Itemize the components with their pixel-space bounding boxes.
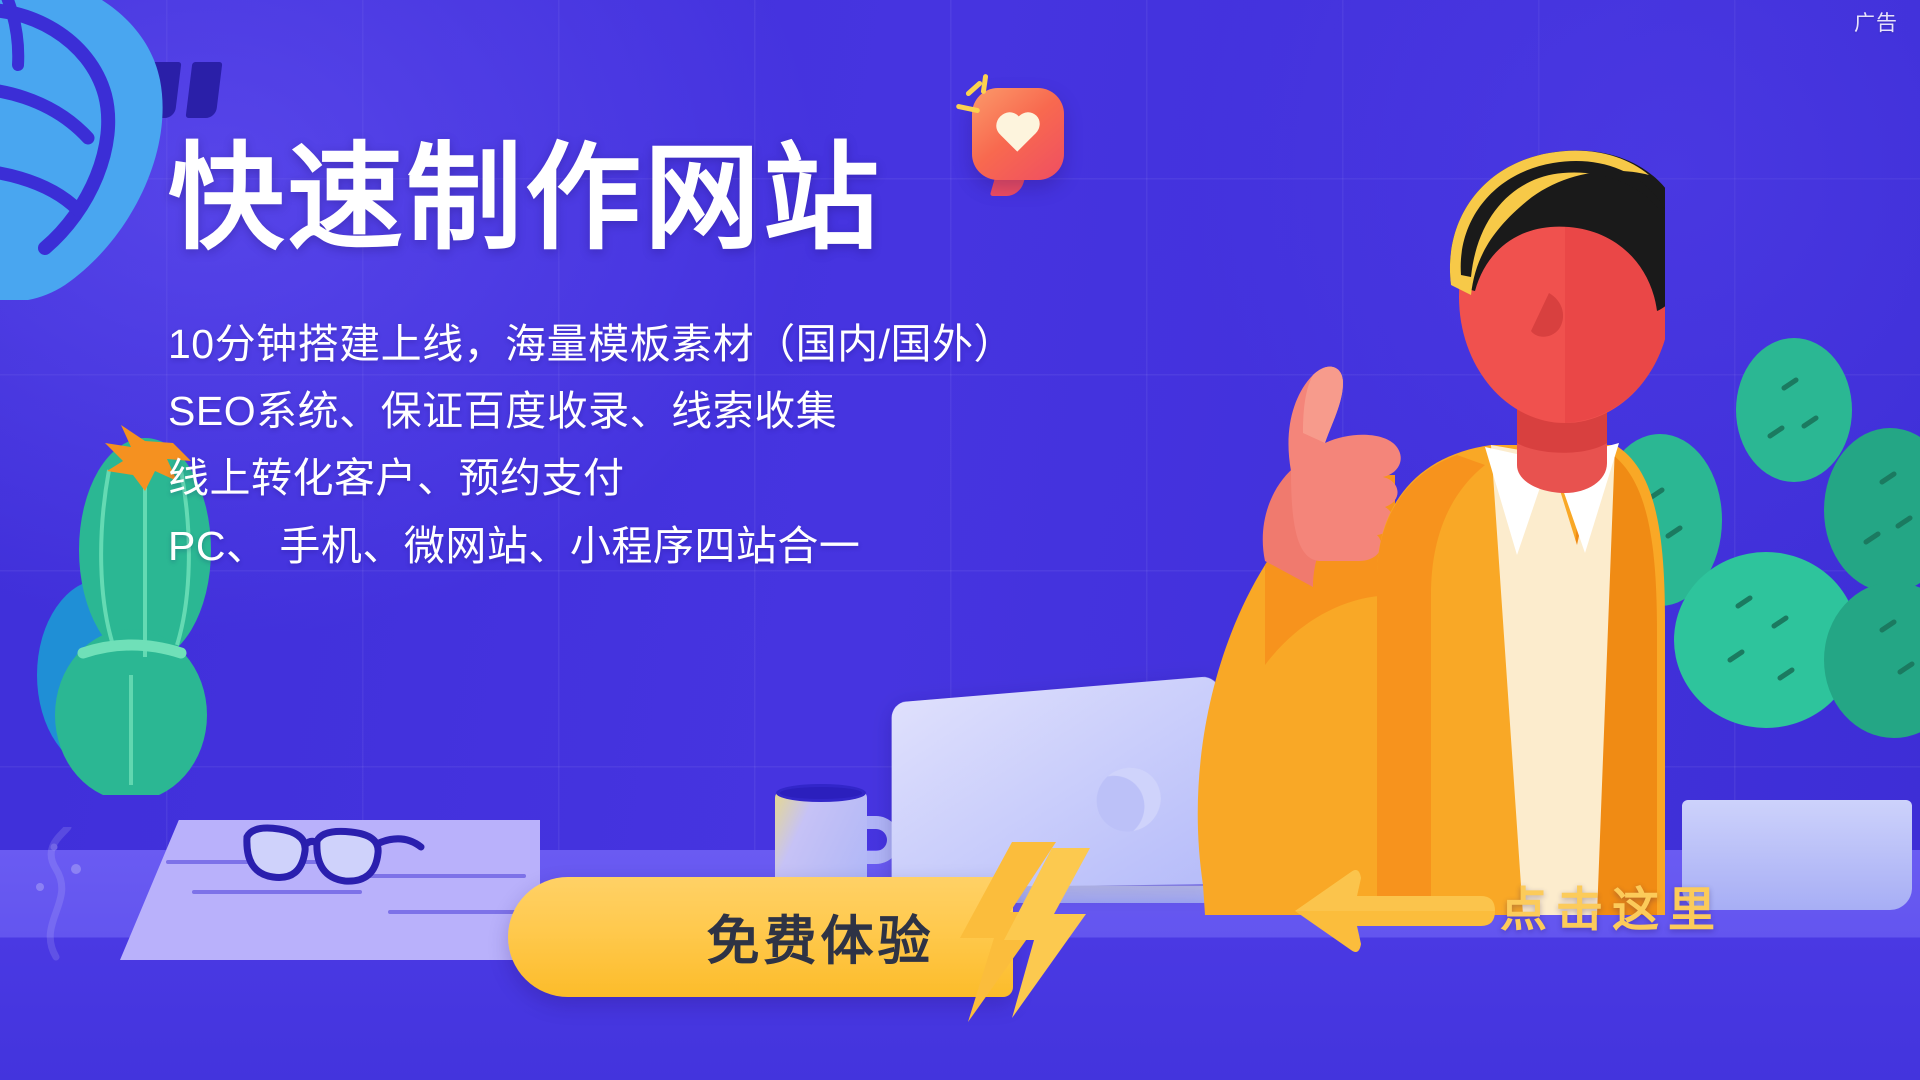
click-here-hint: 点击这里 <box>1500 871 1724 940</box>
ad-label: 广告 <box>1854 7 1898 37</box>
lightning-bolt-icon <box>960 842 1090 1022</box>
left-arrow-icon <box>1295 870 1495 952</box>
page-title: 快速制作网站 <box>168 130 1015 267</box>
person-illustration <box>1145 125 1665 915</box>
free-trial-button[interactable]: 免费体验 <box>508 877 1013 997</box>
list-item: PC、 手机、微网站、小程序四站合一 <box>168 513 1015 580</box>
free-trial-button-label: 免费体验 <box>587 899 935 975</box>
list-item: 线上转化客户、预约支付 <box>168 445 1015 512</box>
list-item: SEO系统、保证百度收录、线索收集 <box>168 378 1015 445</box>
feature-list: 10分钟搭建上线，海量模板素材（国内/国外） SEO系统、保证百度收录、线索收集… <box>168 311 1015 580</box>
ad-copy: 快速制作网站 10分钟搭建上线，海量模板素材（国内/国外） SEO系统、保证百度… <box>168 130 1015 580</box>
list-item: 10分钟搭建上线，海量模板素材（国内/国外） <box>168 311 1015 378</box>
eyeglasses-icon <box>235 815 425 895</box>
ad-banner[interactable]: 广告 <box>0 0 1920 1080</box>
steam-icon <box>18 827 98 962</box>
